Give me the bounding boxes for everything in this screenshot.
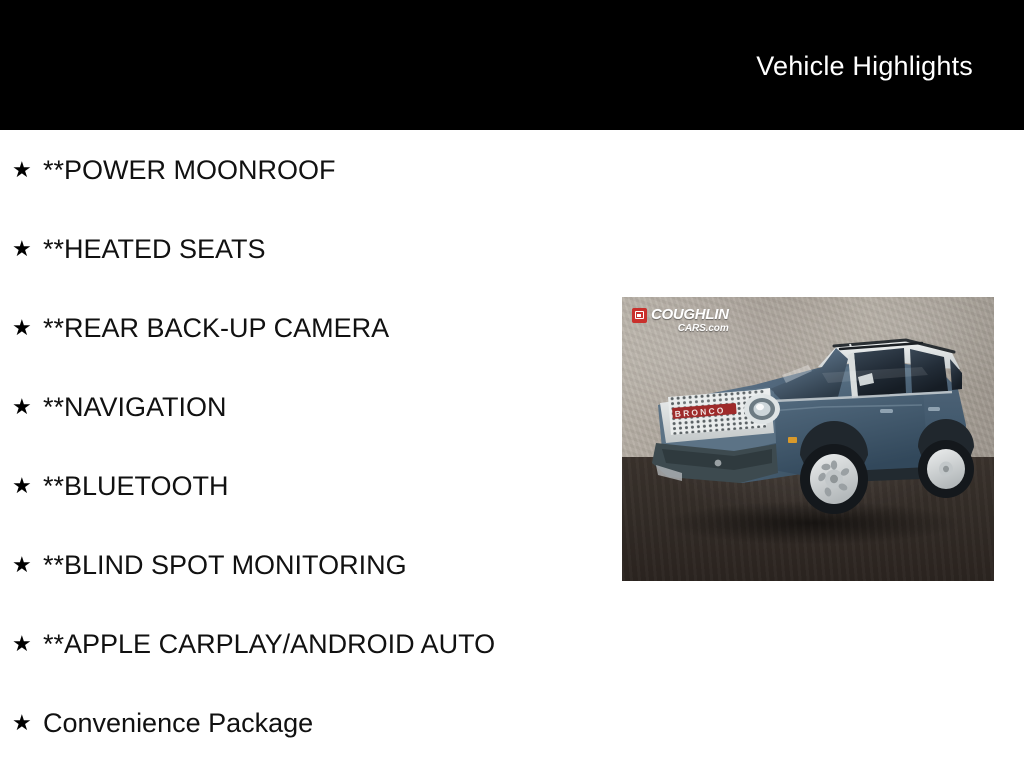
highlight-label: **BLIND SPOT MONITORING (43, 549, 620, 581)
watermark-text: COUGHLIN CARS.com (651, 307, 729, 334)
page-title: Vehicle Highlights (756, 50, 973, 82)
star-icon: ★ (12, 159, 43, 181)
list-item: ★ **APPLE CARPLAY/ANDROID AUTO (0, 604, 620, 683)
list-item: ★ **POWER MOONROOF (0, 130, 620, 209)
star-icon: ★ (12, 475, 43, 497)
dealer-watermark: COUGHLIN CARS.com (632, 307, 729, 334)
list-item: ★ Convenience Package (0, 683, 620, 762)
star-icon: ★ (12, 317, 43, 339)
star-icon: ★ (12, 396, 43, 418)
star-icon: ★ (12, 554, 43, 576)
vehicle-photo: BRONCO (622, 297, 994, 581)
list-item: ★ **BLUETOOTH (0, 446, 620, 525)
coughlin-logo-icon (632, 308, 647, 323)
vehicle-illustration: BRONCO (622, 297, 994, 581)
highlight-label: **POWER MOONROOF (43, 154, 620, 186)
watermark-secondary-text: CARS.com (651, 324, 729, 334)
list-item: ★ **NAVIGATION (0, 367, 620, 446)
highlight-label: **HEATED SEATS (43, 233, 620, 265)
list-item: ★ **HEATED SEATS (0, 209, 620, 288)
highlight-label: **REAR BACK-UP CAMERA (43, 312, 620, 344)
star-icon: ★ (12, 712, 43, 734)
vehicle-highlights-list: ★ **POWER MOONROOF ★ **HEATED SEATS ★ **… (0, 130, 620, 762)
header-banner: Vehicle Highlights (0, 0, 1024, 130)
star-icon: ★ (12, 633, 43, 655)
highlight-label: **NAVIGATION (43, 391, 620, 423)
highlight-label: **BLUETOOTH (43, 470, 620, 502)
list-item: ★ **REAR BACK-UP CAMERA (0, 288, 620, 367)
highlight-label: Convenience Package (43, 707, 620, 739)
highlight-label: **APPLE CARPLAY/ANDROID AUTO (43, 628, 620, 660)
list-item: ★ **BLIND SPOT MONITORING (0, 525, 620, 604)
watermark-primary-text: COUGHLIN (651, 307, 729, 322)
star-icon: ★ (12, 238, 43, 260)
